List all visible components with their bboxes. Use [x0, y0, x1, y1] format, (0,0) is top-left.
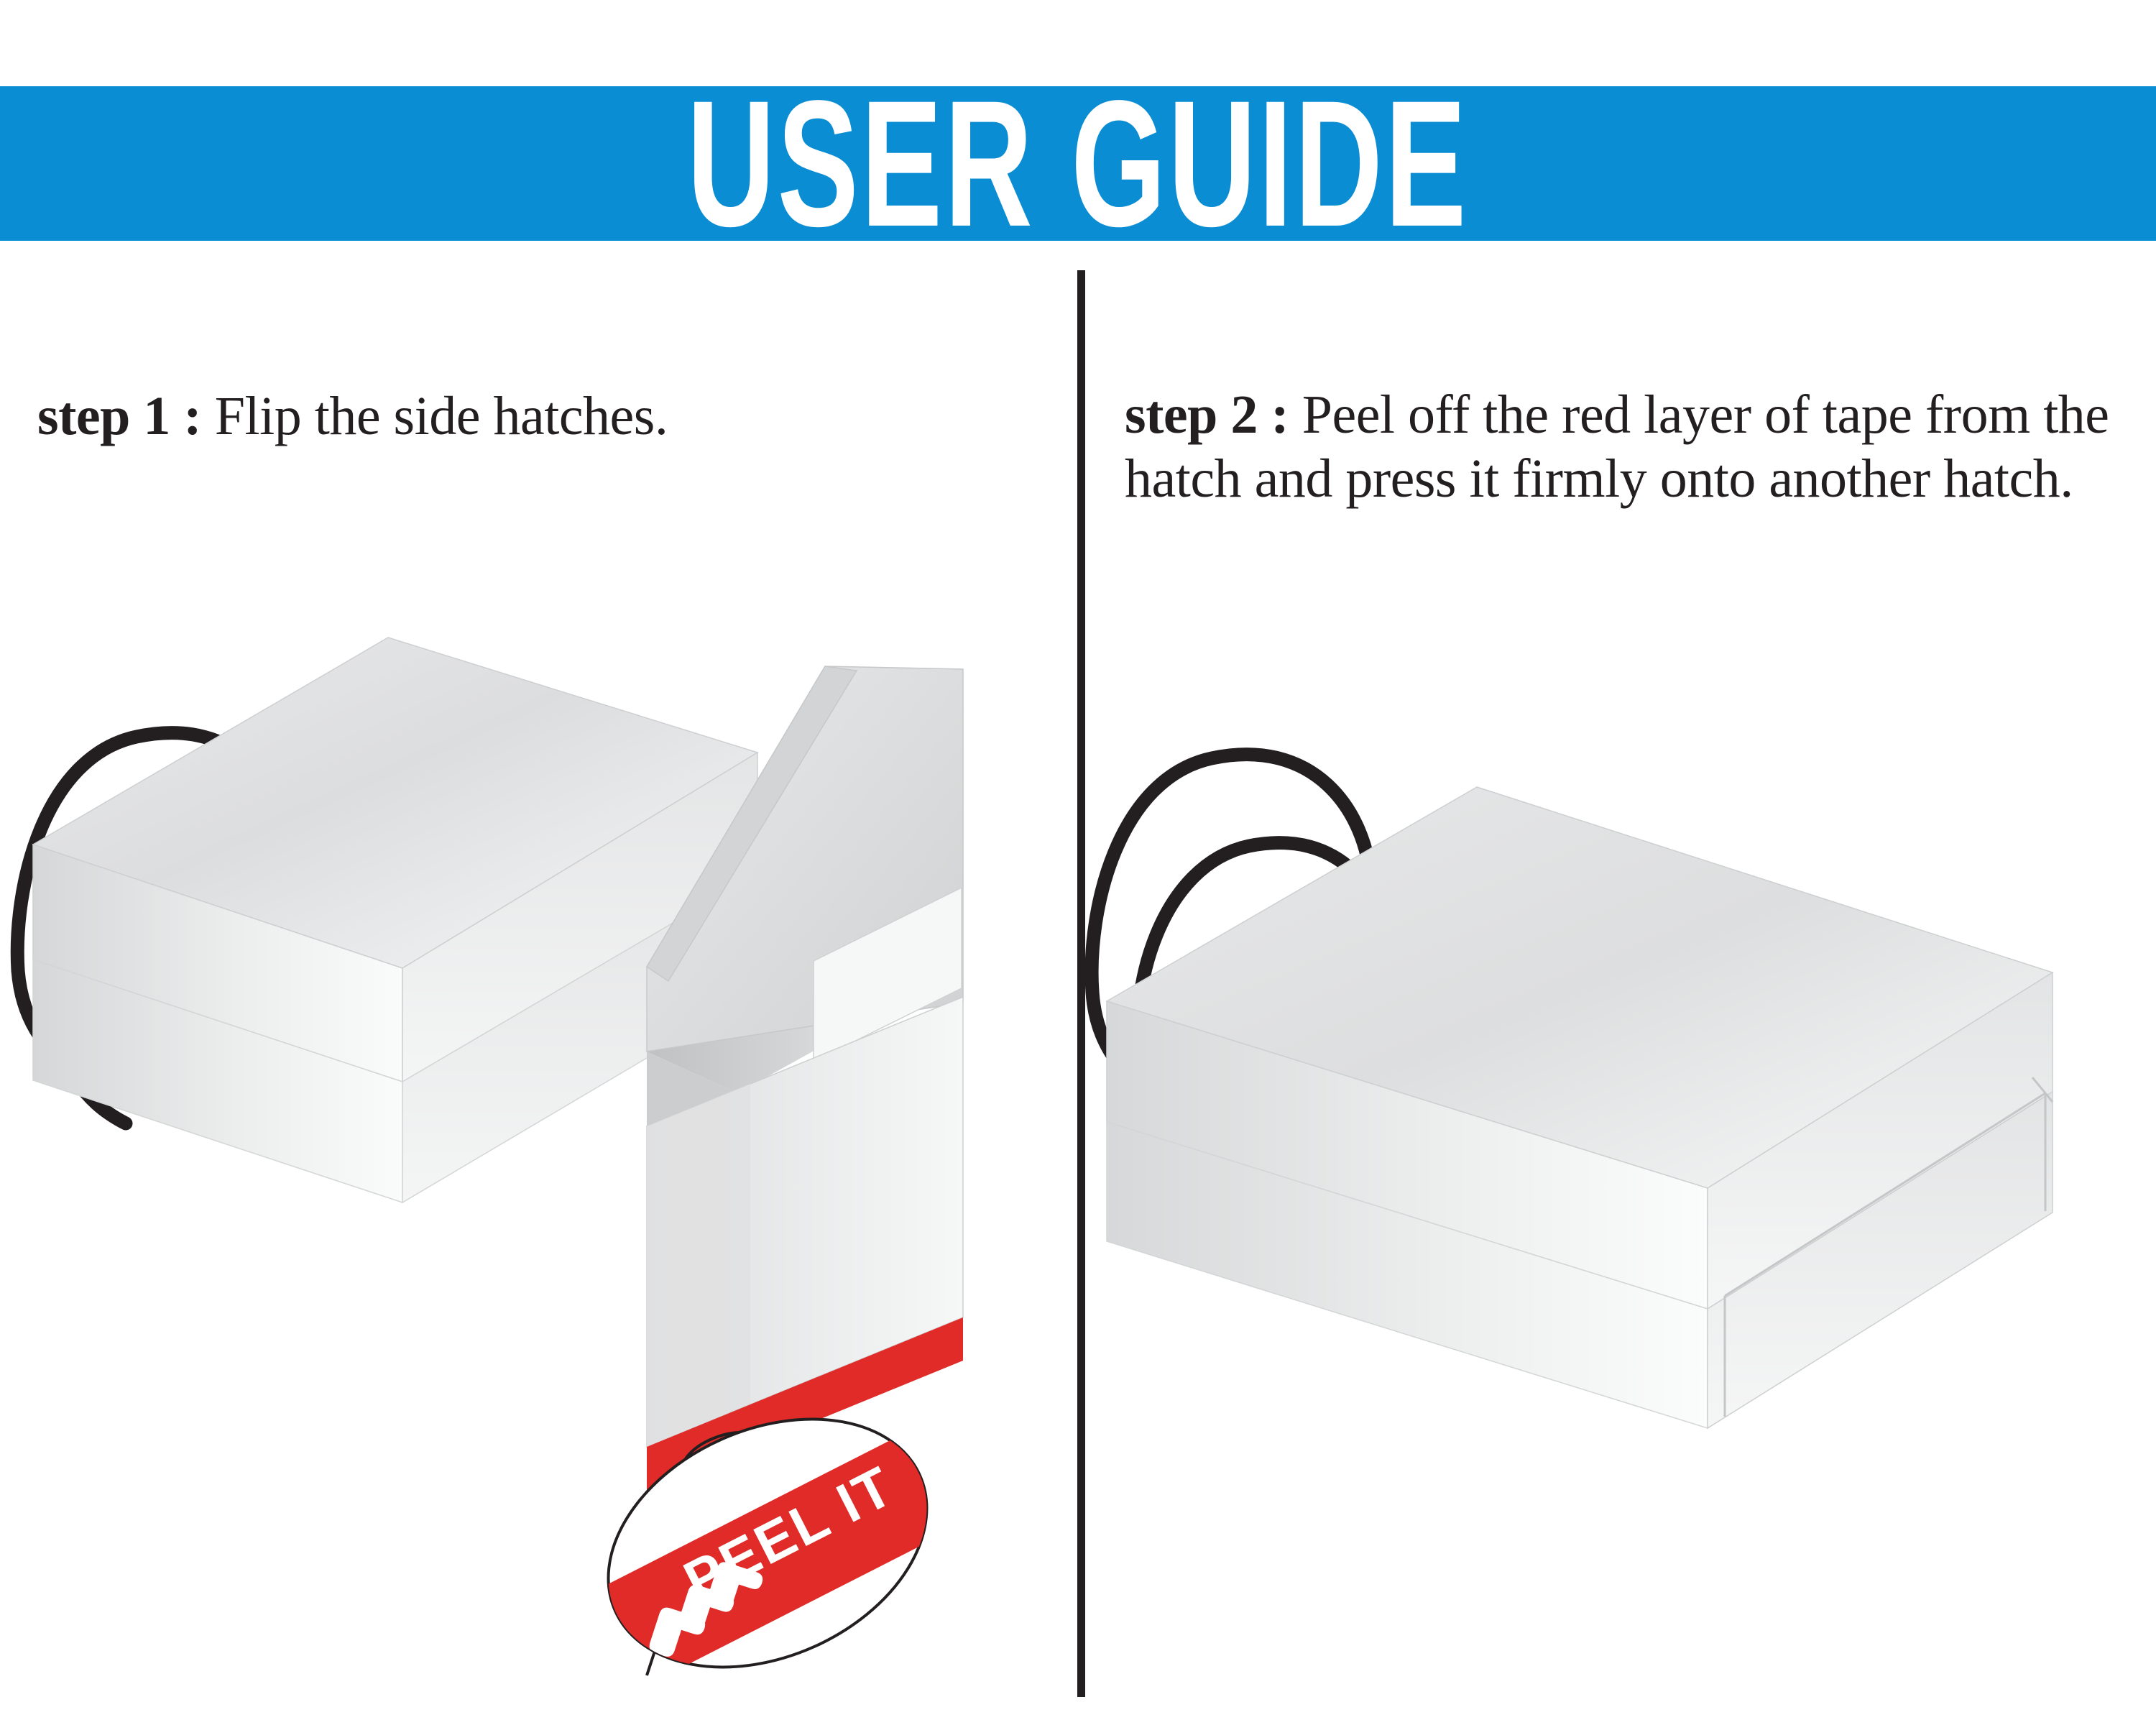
sealed-hatch-corner-fold — [2032, 1077, 2053, 1102]
hatch-panel-lower-shade — [647, 1084, 750, 1447]
sealed-hatch-seam — [1725, 1093, 2045, 1417]
rope-handles — [17, 733, 326, 1123]
step-2-caption: step 2 : Peel off the red layer of tape … — [1125, 383, 2152, 511]
page-title-text: USER GUIDE — [687, 86, 1468, 241]
hatch-flap-upper — [647, 666, 963, 1052]
callout-chevrons — [626, 1545, 787, 1680]
step-1-illustration: PEEL IT PEEL IT — [0, 241, 1077, 1725]
panel-divider — [1077, 270, 1085, 1697]
rope-handle-front — [1138, 843, 1401, 1076]
callout-bubble-label: PEEL IT — [674, 1453, 904, 1612]
rope-end-front — [67, 1054, 126, 1123]
header-bar: USER GUIDE — [0, 86, 2156, 241]
step-1-caption: step 1 : Flip the side hatches. — [37, 385, 1029, 448]
box-right-face — [1708, 972, 2053, 1309]
box-right-lower-sealed — [1708, 1092, 2053, 1428]
rope-end-front — [1141, 1076, 1200, 1145]
callout-leader-lines — [647, 1463, 806, 1675]
rope-end-back — [1092, 992, 1148, 1090]
step-1-panel: step 1 : Flip the side hatches. — [0, 241, 1077, 1725]
box-inner-cavity — [647, 964, 898, 1093]
rope-end-back — [18, 970, 74, 1069]
page-title: USER GUIDE — [0, 96, 2156, 231]
box-front-face — [33, 845, 402, 1082]
rope-handle-back — [1092, 755, 1372, 1011]
rope-handle-front — [63, 822, 327, 1054]
step-2-label: step 2 : — [1125, 385, 1289, 445]
box-lower-front — [33, 960, 402, 1202]
box-front-face — [1107, 1001, 1708, 1309]
hatch-opening — [814, 888, 962, 1062]
leader-line-left — [647, 1467, 715, 1675]
callout-red-band — [567, 1409, 1000, 1701]
box-right-lower — [402, 873, 757, 1202]
box-top-face — [33, 638, 757, 968]
leader-line-right — [729, 1463, 806, 1592]
box-top-face — [1107, 787, 2053, 1188]
hatch-panel-lower — [647, 997, 963, 1447]
peel-it-callout-bubble: PEEL IT — [567, 1371, 1000, 1714]
step-2-panel: step 2 : Peel off the red layer of tape … — [1085, 241, 2156, 1725]
box-inner-cavity-wall — [647, 1052, 737, 1168]
tape-strip-red — [647, 1317, 963, 1490]
box-right-face — [402, 753, 757, 1082]
peel-it-marker: PEEL IT — [676, 1423, 765, 1488]
hatch-flap-fold — [647, 666, 857, 981]
box-front-lower — [1107, 1122, 1708, 1428]
rope-handles — [1092, 755, 1401, 1145]
rope-handle-back — [17, 733, 296, 990]
step-1-body: Flip the side hatches. — [215, 386, 668, 446]
callout-bubble-outline — [569, 1371, 966, 1714]
step-1-label: step 1 : — [37, 386, 201, 446]
peel-it-marker-label: PEEL IT — [692, 1427, 759, 1468]
peel-it-marker-chevrons — [694, 1458, 722, 1473]
